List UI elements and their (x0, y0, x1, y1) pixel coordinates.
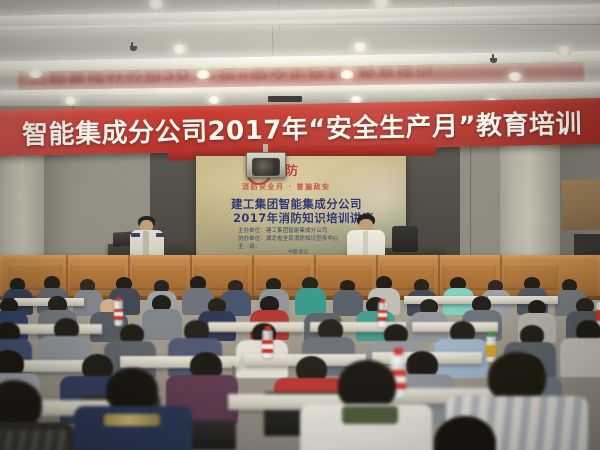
slide-detail-line1: 主办单位：建工集团智能集成分公司 (238, 226, 327, 234)
ceiling-downlight (28, 68, 43, 78)
ceiling-downlight (148, 0, 164, 9)
chair-on-stage (392, 226, 418, 252)
slide-subtitle: 消防安全月 · 普遍政安 (242, 182, 331, 192)
wood-wall-panel (562, 180, 600, 230)
ceiling-downlight (340, 70, 354, 79)
slide-detail-line3: 主 讲： (238, 242, 286, 250)
ceiling-downlight (64, 96, 77, 105)
ceiling-downlight (196, 70, 210, 79)
slide-detail-line2: 协办单位：湖北省全民消防知识宣传中心 (238, 234, 339, 242)
sprinkler-head (492, 54, 494, 59)
slide-title-line2: 2017年消防知识培训讲座 (233, 210, 374, 226)
sprinkler-head (131, 42, 133, 47)
shirt-print (104, 414, 160, 426)
ceiling-downlight (556, 46, 572, 56)
ceiling-downlight (508, 72, 522, 81)
ceiling-downlight (172, 44, 187, 54)
audience-row-foreground (0, 380, 600, 450)
sprinkler-head (268, 96, 302, 102)
ceiling-downlight (352, 42, 368, 52)
ceiling: 智能集成分公司2017年“安全生产月”教育培训 (0, 0, 600, 112)
projector-lens-icon (252, 158, 280, 176)
photo-scene: 智能集成分公司2017年“安全生产月”教育培训 (0, 0, 600, 450)
ceiling-downlight (208, 96, 220, 104)
